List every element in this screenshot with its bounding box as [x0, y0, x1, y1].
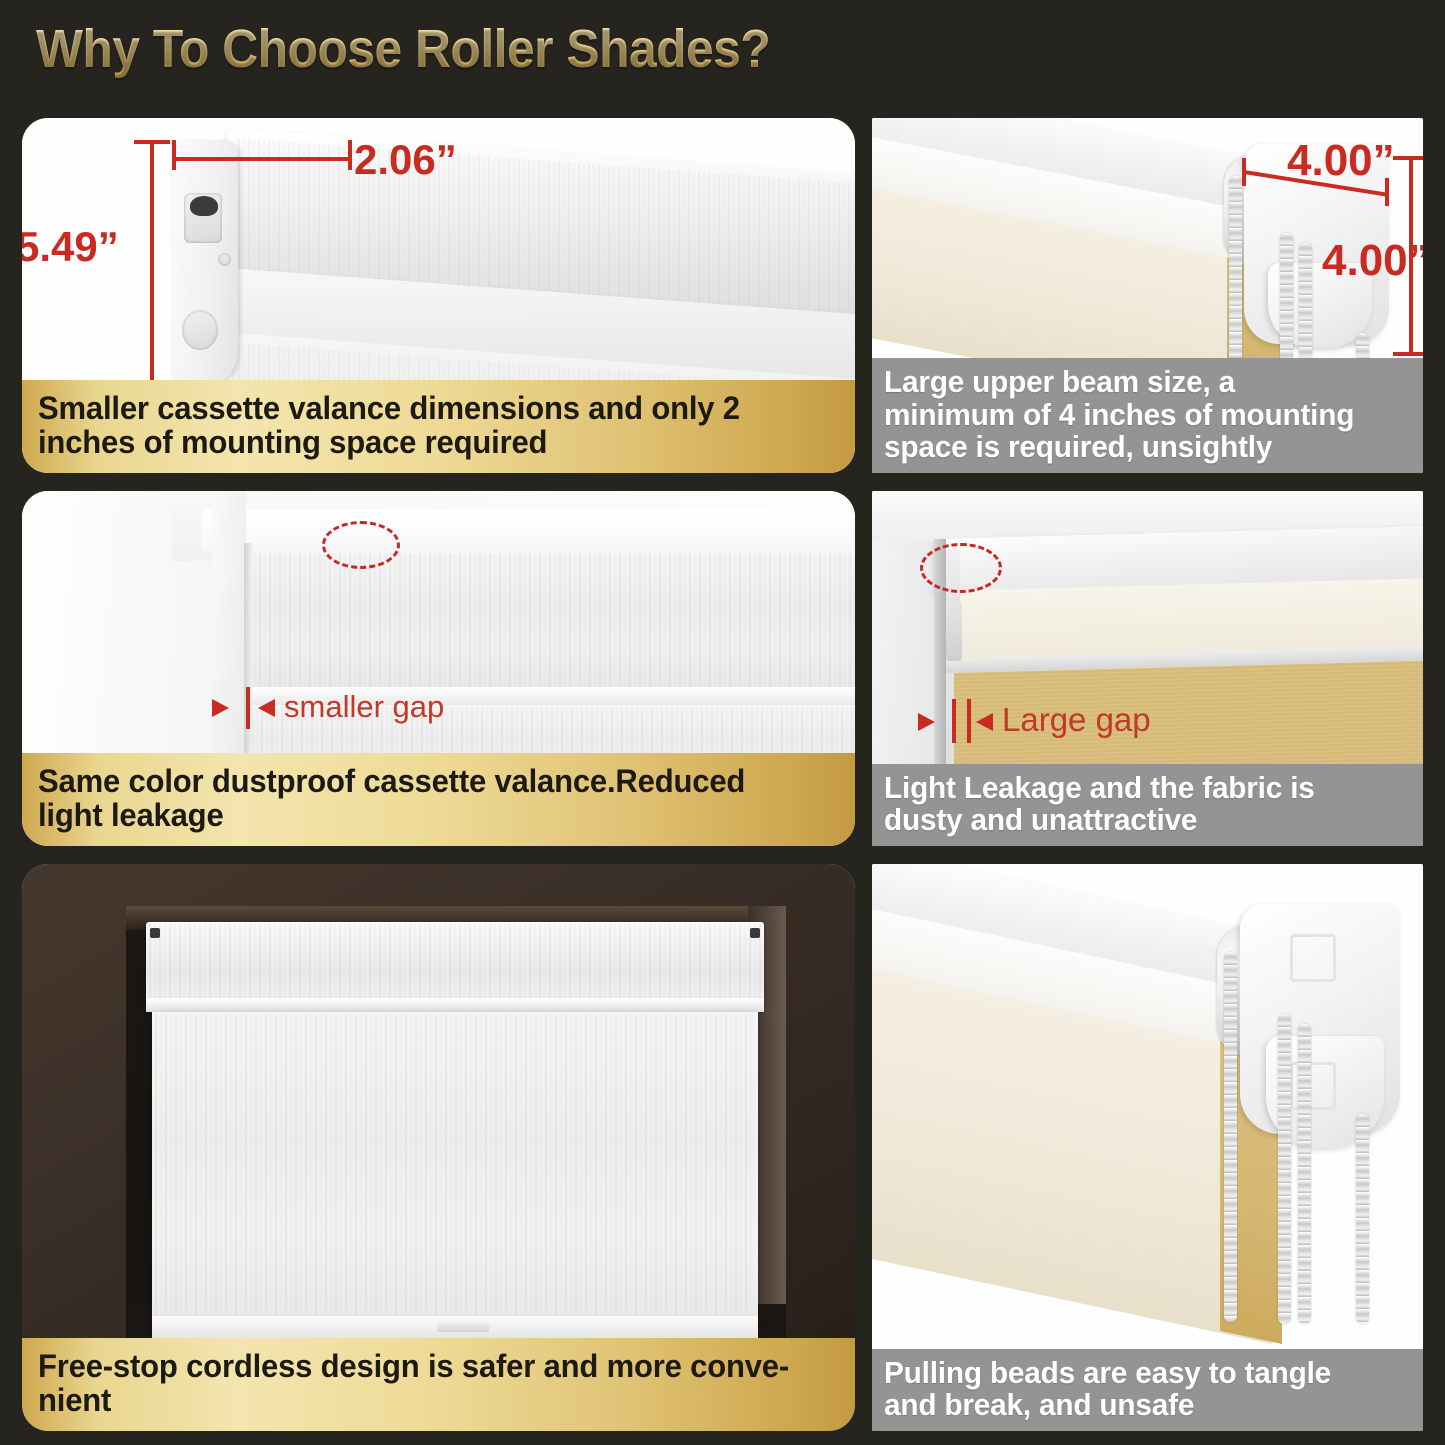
panel-smaller-cassette-valance: 2.06” 5.49” Smaller cassette valance dim… — [22, 118, 855, 473]
caption-line: minimum of 4 inches of mounting — [884, 399, 1390, 431]
height-dimension-line — [150, 140, 154, 392]
panel-caption-gold: Same color dustproof cassette valance.Re… — [22, 753, 855, 846]
beam-width-label: 4.00” — [1287, 136, 1395, 186]
caption-line: Pulling beads are easy to tangle — [884, 1357, 1390, 1389]
bead-chain — [1298, 1024, 1311, 1324]
panel-light-leakage: Large gap Light Leakage and the fabric i… — [872, 491, 1423, 846]
gap-callout-label: Large gap — [1002, 701, 1151, 739]
panel-caption-gray: Large upper beam size, a minimum of 4 in… — [872, 358, 1423, 473]
panel-large-upper-beam: 4.00” 4.00” Large upper beam size, a min… — [872, 118, 1423, 473]
photo-roller-shade-bead-chains — [872, 864, 1423, 1431]
beam-height-label: 4.00” — [1322, 236, 1423, 286]
gap-arrow-right-icon — [258, 699, 275, 717]
bead-chain — [1356, 1114, 1369, 1324]
caption-line: and break, and unsafe — [884, 1389, 1390, 1421]
gap-arrow-left-icon — [212, 699, 229, 717]
height-dimension-label: 5.49” — [22, 223, 119, 271]
highlight-circle-icon — [322, 521, 400, 569]
caption-line: nient — [38, 1384, 815, 1417]
gap-marker — [952, 699, 956, 743]
bead-chain — [1224, 952, 1237, 1322]
caption-line: inches of mounting space required — [38, 426, 815, 459]
panel-free-stop-cordless: Free-stop cordless design is safer and m… — [22, 864, 855, 1431]
width-dimension-line — [172, 157, 352, 161]
panel-caption-gray: Pulling beads are easy to tangle and bre… — [872, 1349, 1423, 1431]
highlight-circle-icon — [920, 543, 1002, 593]
caption-line: Free-stop cordless design is safer and m… — [38, 1350, 815, 1383]
caption-line: Light Leakage and the fabric is — [884, 772, 1390, 804]
width-dimension-label: 2.06” — [354, 136, 457, 184]
page-title: Why To Choose Roller Shades? — [36, 18, 770, 80]
gap-marker — [967, 699, 971, 743]
gap-arrow-right-icon — [976, 713, 993, 731]
panel-caption-gold: Free-stop cordless design is safer and m… — [22, 1338, 855, 1431]
caption-line: light leakage — [38, 799, 815, 832]
caption-line: Same color dustproof cassette valance.Re… — [38, 765, 815, 798]
gap-callout-label: smaller gap — [284, 689, 444, 725]
gap-arrow-left-icon — [918, 713, 935, 731]
caption-line: Smaller cassette valance dimensions and … — [38, 392, 815, 425]
caption-line: space is required, unsightly — [884, 431, 1390, 463]
panel-same-color-dustproof-valance: smaller gap Same color dustproof cassett… — [22, 491, 855, 846]
infographic-canvas: Why To Choose Roller Shades? 2.06” 5.49” — [0, 0, 1445, 1445]
caption-line: Large upper beam size, a — [884, 366, 1390, 398]
panel-pulling-beads-unsafe: Pulling beads are easy to tangle and bre… — [872, 864, 1423, 1431]
bead-chain — [1278, 1014, 1291, 1324]
panel-caption-gray: Light Leakage and the fabric is dusty an… — [872, 764, 1423, 846]
caption-line: dusty and unattractive — [884, 804, 1390, 836]
panel-caption-gold: Smaller cassette valance dimensions and … — [22, 380, 855, 473]
gap-marker — [246, 687, 250, 729]
